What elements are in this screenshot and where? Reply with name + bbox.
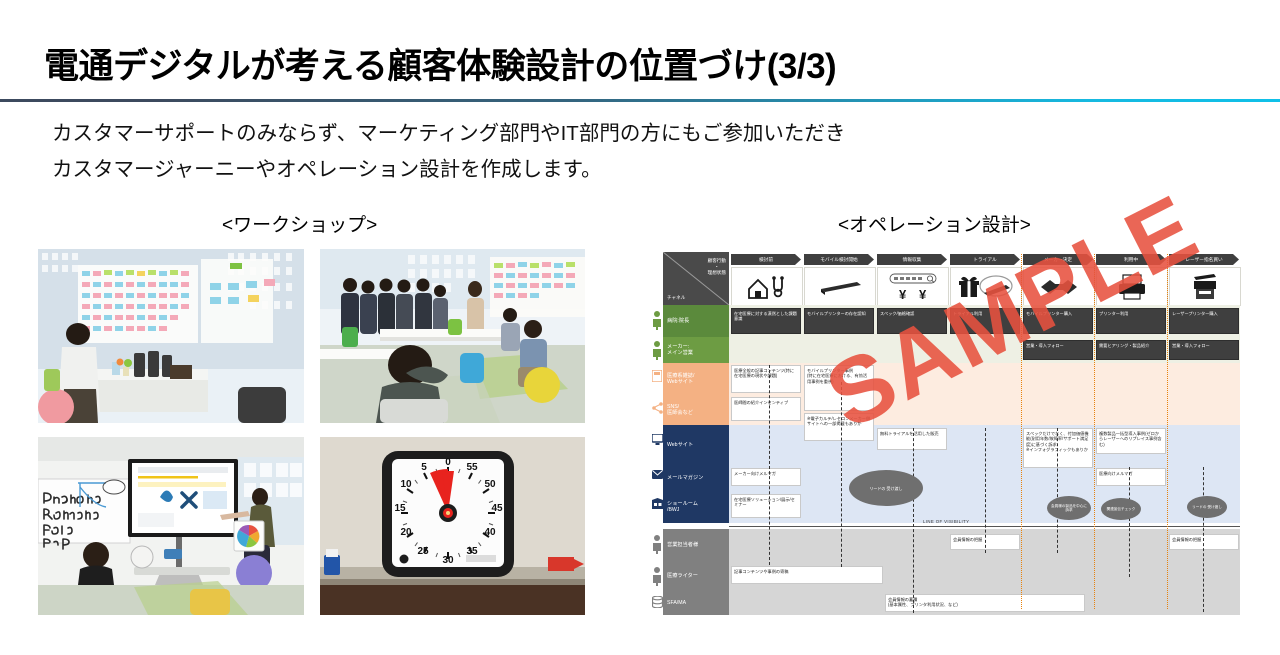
svg-text:20: 20 bbox=[400, 527, 412, 538]
svg-text:5: 5 bbox=[421, 462, 427, 473]
lead-paragraph: カスタマーサポートのみならず、マーケティング部門やIT部門の方にもご参加いただき… bbox=[52, 116, 1152, 189]
operation-design-diagram: 顧客行動・理想状態 チャネル 検討前 モバイル検討開始 情報収集 トライアル メ… bbox=[663, 252, 1240, 615]
presentation-image bbox=[38, 437, 304, 615]
phase-icon-cell-0 bbox=[731, 267, 803, 306]
photo-time-timer: 0 55 50 45 40 35 30 25 20 15 10 5 bbox=[320, 437, 585, 615]
svg-text:50: 50 bbox=[484, 479, 496, 490]
phase-header-0[interactable]: 検討前 bbox=[731, 254, 801, 265]
connector-line-4 bbox=[985, 428, 986, 553]
cell-r1-c6[interactable]: 営業・導入フォロー bbox=[1169, 340, 1239, 360]
lead-line-2: カスタマージャーニーやオペレーション設計を作成します。 bbox=[52, 152, 1152, 188]
cell-r0-c3[interactable]: トライアル利用 bbox=[950, 308, 1020, 334]
phase-icon-cell-6 bbox=[1169, 267, 1241, 306]
phase-icon-cell-5 bbox=[1096, 267, 1168, 306]
phase-header-5[interactable]: 利用中 bbox=[1096, 254, 1166, 265]
person-gray-icon bbox=[652, 566, 662, 586]
cell-r5-c0[interactable]: メーカー向けメルマガ bbox=[731, 468, 801, 486]
svg-text:55: 55 bbox=[466, 462, 478, 473]
caption-operation-design: <オペレーション設計> bbox=[838, 210, 1031, 237]
connector-line-2 bbox=[841, 382, 842, 567]
row-label-3[interactable]: SNS/ 医師会など bbox=[663, 395, 729, 425]
phase-divider-dotted-3 bbox=[1167, 254, 1168, 609]
cell-r3-c1[interactable]: ※電子カルテ/レセコンメーカー側サイトへの一部掲載もありか bbox=[804, 413, 874, 441]
person-green-icon bbox=[652, 340, 662, 360]
search-price-icon: ¥ ¥ bbox=[887, 272, 939, 302]
phase-header-4[interactable]: メーカー決定 bbox=[1023, 254, 1093, 265]
line-of-visibility-label: LINE OF VISIBILITY bbox=[923, 519, 969, 524]
row-label-7[interactable]: 営業担当者様 bbox=[663, 529, 729, 561]
diagram-corner-cell: 顧客行動・理想状態 チャネル bbox=[663, 252, 729, 305]
phase-header-2[interactable]: 情報収集 bbox=[877, 254, 947, 265]
photo-presentation-screen bbox=[38, 437, 304, 615]
cell-r7-c6[interactable]: 会員情報の把握 bbox=[1169, 534, 1239, 550]
svg-text:40: 40 bbox=[484, 527, 496, 538]
svg-text:45: 45 bbox=[491, 503, 503, 514]
row-label-2[interactable]: 医療系雑誌/ Webサイト bbox=[663, 363, 729, 395]
mobile-printer-icon bbox=[817, 278, 863, 296]
cell-r1-c4[interactable]: 営業・導入フォロー bbox=[1023, 340, 1093, 360]
cell-r9-c2[interactable]: 会員情報の蓄積 (基本属性、プリンタ利用状況、など) bbox=[885, 594, 1085, 612]
magazine-icon bbox=[652, 370, 662, 382]
row-label-8[interactable]: 医療ライター bbox=[663, 561, 729, 591]
database-icon bbox=[652, 596, 663, 608]
svg-text:30: 30 bbox=[442, 555, 454, 566]
connector-line-3 bbox=[913, 428, 914, 613]
connector-line-7 bbox=[1203, 467, 1204, 612]
row-label-9[interactable]: SFA/MA bbox=[663, 591, 729, 615]
person-gray-icon bbox=[652, 534, 662, 554]
gift-printer-icon bbox=[958, 273, 1014, 301]
showroom-icon bbox=[652, 498, 663, 509]
laser-printer-icon bbox=[1117, 274, 1147, 300]
corner-label-customer-action: 顧客行動・理想状態 bbox=[708, 258, 726, 277]
svg-text:0: 0 bbox=[445, 457, 451, 468]
photo-sticky-note-wall bbox=[38, 249, 304, 423]
cell-r0-c5[interactable]: プリンター利用 bbox=[1096, 308, 1166, 334]
corner-label-channel: チャネル bbox=[667, 295, 685, 301]
cell-r2-c1[interactable]: モバイルプリンター事例 (特に在宅医療における、有効活用事例を重視) bbox=[804, 365, 874, 411]
phase-divider-dotted-1 bbox=[1021, 254, 1022, 609]
cell-r0-c6[interactable]: レーザープリンター購入 bbox=[1169, 308, 1239, 334]
cell-r6-c0[interactable]: 在宅医療ソリューション/展示/セミナー bbox=[731, 494, 801, 518]
cell-r8-c0[interactable]: 記事コンテンツや事例の寄稿 bbox=[731, 566, 883, 584]
svg-text:10: 10 bbox=[400, 479, 412, 490]
connector-line-5 bbox=[1057, 428, 1058, 553]
row-label-0[interactable]: 病院:院長 bbox=[663, 305, 729, 337]
row-label-5[interactable]: メールマガジン bbox=[663, 465, 729, 491]
cell-r0-c1[interactable]: モバイルプリンターの存在認知 bbox=[804, 308, 874, 334]
workshop-photo-grid: 0 55 50 45 40 35 30 25 20 15 10 5 bbox=[38, 249, 585, 615]
cell-r4-c5[interactable]: 複数製品一括型導入事例(ゼロからレーザーへのリプレイス事例含む) bbox=[1096, 428, 1166, 454]
connector-line-1 bbox=[769, 365, 770, 565]
phase-divider-dotted-2 bbox=[1094, 254, 1095, 609]
cell-r0-c4[interactable]: モバイルプリンター購入 bbox=[1023, 308, 1093, 334]
phase-icon-cell-1 bbox=[804, 267, 876, 306]
svg-text:15: 15 bbox=[394, 503, 406, 514]
annotation-blob-1: 会員様の製品を中心に訴求 bbox=[1047, 496, 1091, 520]
cell-r5-c5[interactable]: 医療向けメルマガ bbox=[1096, 468, 1166, 486]
page-title: 電通デジタルが考える顧客体験設計の位置づけ(3/3) bbox=[44, 38, 836, 89]
phase-icon-cell-3 bbox=[950, 267, 1022, 306]
svg-text:25: 25 bbox=[417, 546, 429, 557]
phase-icon-cell-2: ¥ ¥ bbox=[877, 267, 949, 306]
handshake-icon bbox=[1039, 276, 1079, 298]
row-label-4[interactable]: Webサイト bbox=[663, 425, 729, 465]
row-label-1[interactable]: メーカー: メイン営業 bbox=[663, 337, 729, 363]
phase-header-3[interactable]: トライアル bbox=[950, 254, 1020, 265]
title-divider bbox=[0, 99, 1280, 102]
cell-r2-c0[interactable]: 医療全般の記事コンテンツ(特に在宅医療の現状や課題) bbox=[731, 365, 801, 393]
row-label-6[interactable]: ショールーム /BWJ bbox=[663, 491, 729, 523]
lead-line-1: カスタマーサポートのみならず、マーケティング部門やIT部門の方にもご参加いただき bbox=[52, 116, 1152, 152]
cell-r4-c4[interactable]: スペックだけでなく、付加価値機能(耐用年数/故障率/サポート満足度)に基づく訴求… bbox=[1023, 428, 1093, 468]
phase-icon-cell-4 bbox=[1023, 267, 1095, 306]
connector-line-6 bbox=[1129, 467, 1130, 577]
share-icon bbox=[652, 402, 663, 414]
mail-icon bbox=[652, 470, 663, 479]
workshop-room-image bbox=[320, 249, 585, 423]
caption-workshop: <ワークショップ> bbox=[222, 210, 377, 237]
cell-r1-c5[interactable]: 需要ヒアリング・製品紹介 bbox=[1096, 340, 1166, 360]
copier-icon bbox=[1190, 273, 1220, 301]
phase-header-1[interactable]: モバイル検討開始 bbox=[804, 254, 874, 265]
photo-workshop-room bbox=[320, 249, 585, 423]
annotation-blob-0: リードの 受け渡し bbox=[849, 470, 923, 506]
monitor-icon bbox=[652, 434, 663, 445]
time-timer-image: 0 55 50 45 40 35 30 25 20 15 10 5 bbox=[320, 437, 585, 615]
annotation-blob-2: 関連宣伝チェック bbox=[1101, 498, 1141, 520]
svg-text:¥: ¥ bbox=[899, 287, 907, 302]
cell-r3-c0[interactable]: 医師間の紹介インセンティブ bbox=[731, 397, 801, 421]
cell-r0-c0[interactable]: 在宅医療に対する漠然とした課題意識 bbox=[731, 308, 801, 334]
cell-r0-c2[interactable]: スペック/価格確認 bbox=[877, 308, 947, 334]
cell-r4-c2[interactable]: 無料トライアルを活用した販売 bbox=[877, 428, 947, 450]
home-stethoscope-icon bbox=[746, 275, 788, 299]
person-green-icon bbox=[652, 310, 662, 330]
phase-header-6[interactable]: レーザー指名買い bbox=[1169, 254, 1239, 265]
svg-text:¥: ¥ bbox=[919, 287, 927, 302]
sticky-note-wall-image bbox=[38, 249, 304, 423]
annotation-blob-3: リードの 受け渡し bbox=[1187, 496, 1227, 518]
